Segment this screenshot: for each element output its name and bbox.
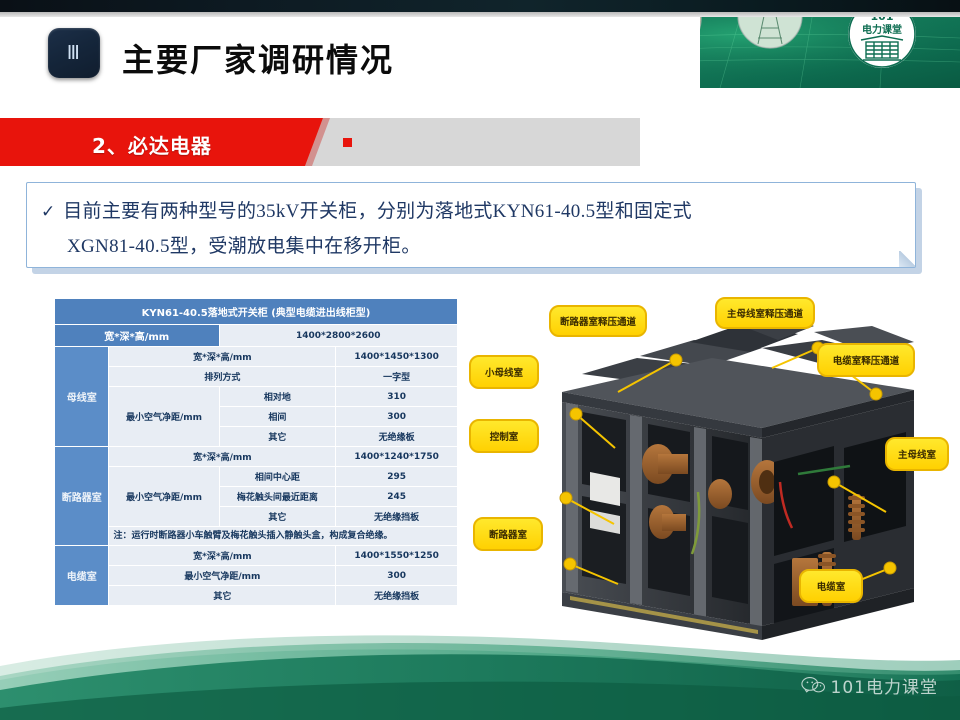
row-value: 无绝缘挡板 xyxy=(336,586,458,606)
section-number-label: Ⅲ xyxy=(67,42,82,65)
table-row: 最小空气净距/mm 相对地 310 xyxy=(55,387,458,407)
table-row: 最小空气净距/mm 300 xyxy=(55,566,458,586)
overall-dimension-value: 1400*2800*2600 xyxy=(219,325,457,347)
watermark: 101电力课堂 xyxy=(801,673,938,698)
table-row: 断路器室 宽*深*高/mm 1400*1240*1750 xyxy=(55,447,458,467)
row-group-label: 最小空气净距/mm xyxy=(109,467,219,527)
row-group-label: 最小空气净距/mm xyxy=(109,387,219,447)
row-sublabel: 相间 xyxy=(219,407,336,427)
callout-label: 主母线室 xyxy=(898,449,937,461)
row-value: 300 xyxy=(336,566,458,586)
callout-textbox: ✓ 目前主要有两种型号的35kV开关柜，分别为落地式KYN61-40.5型和固定… xyxy=(26,182,916,268)
check-icon: ✓ xyxy=(41,195,55,229)
spec-table: KYN61-40.5落地式开关柜 (典型电缆进出线柜型) 宽*深*高/mm 14… xyxy=(54,298,458,606)
table-title: KYN61-40.5落地式开关柜 (典型电缆进出线柜型) xyxy=(55,299,458,325)
callout-main-bus-room: 主母线室 xyxy=(886,438,948,470)
callout-main-bus-vent: 主母线室释压通道 xyxy=(716,298,814,328)
row-value: 一字型 xyxy=(336,367,458,387)
breaker-room-note: 注：运行时断路器小车触臂及梅花触头插入静触头盒，构成复合绝缘。 xyxy=(109,527,458,546)
table-row: 最小空气净距/mm 相间中心距 295 xyxy=(55,467,458,487)
row-sublabel: 其它 xyxy=(219,427,336,447)
row-value: 1400*1240*1750 xyxy=(336,447,458,467)
callout-breaker-room: 断路器室 xyxy=(474,518,542,550)
switchgear-diagram: 断路器室释压通道 主母线室释压通道 电缆室释压通道 小母线室 控制室 主母线室 xyxy=(462,296,954,668)
callout-cable-room-vent: 电缆室释压通道 xyxy=(818,344,914,376)
page-title: 主要厂家调研情况 xyxy=(122,35,394,81)
table-title-row: KYN61-40.5落地式开关柜 (典型电缆进出线柜型) xyxy=(55,299,458,325)
section-label-busbar: 母线室 xyxy=(55,347,109,447)
wechat-icon xyxy=(801,676,825,695)
row-value: 无绝缘板 xyxy=(336,427,458,447)
corner-fold-decoration xyxy=(899,251,915,267)
section-label-breaker: 断路器室 xyxy=(55,447,109,546)
row-label: 其它 xyxy=(109,586,336,606)
callout-label: 电缆室释压通道 xyxy=(833,355,900,367)
row-sublabel: 相对地 xyxy=(219,387,336,407)
watermark-text: 101电力课堂 xyxy=(831,673,938,698)
callout-label: 断路器室 xyxy=(489,529,528,541)
table-note-row: 注：运行时断路器小车触臂及梅花触头插入静触头盒，构成复合绝缘。 xyxy=(55,527,458,546)
callout-control-room: 控制室 xyxy=(470,420,538,452)
row-sublabel: 相间中心距 xyxy=(219,467,336,487)
callout-label: 小母线室 xyxy=(484,367,524,379)
callout-cable-room: 电缆室 xyxy=(800,570,862,602)
top-dark-strip xyxy=(0,0,960,12)
row-value: 1400*1450*1300 xyxy=(336,347,458,367)
row-label: 宽*深*高/mm xyxy=(109,447,336,467)
callout-label: 电缆室 xyxy=(817,581,846,593)
row-sublabel: 梅花触头间最近距离 xyxy=(219,487,336,507)
overall-dimension-label: 宽*深*高/mm xyxy=(55,325,220,347)
row-value: 1400*1550*1250 xyxy=(336,546,458,566)
row-label: 最小空气净距/mm xyxy=(109,566,336,586)
svg-text:电力课堂: 电力课堂 xyxy=(862,23,902,36)
table-row: 排列方式 一字型 xyxy=(55,367,458,387)
row-value: 310 xyxy=(336,387,458,407)
row-value: 300 xyxy=(336,407,458,427)
row-label: 排列方式 xyxy=(109,367,336,387)
callout-label: 主母线室释压通道 xyxy=(727,308,804,320)
section-ribbon-row: 2、必达电器 xyxy=(0,118,960,170)
callout-line-1: 目前主要有两种型号的35kV开关柜，分别为落地式KYN61-40.5型和固定式 xyxy=(63,195,692,229)
row-value: 无绝缘挡板 xyxy=(336,507,458,527)
row-sublabel: 其它 xyxy=(219,507,336,527)
section-label-cable: 电缆室 xyxy=(55,546,109,606)
row-label: 宽*深*高/mm xyxy=(109,347,336,367)
section-subtitle: 2、必达电器 xyxy=(92,130,212,159)
callout-label: 断路器室释压通道 xyxy=(560,316,637,328)
section-number-badge: Ⅲ xyxy=(48,28,100,78)
table-row: 电缆室 宽*深*高/mm 1400*1550*1250 xyxy=(55,546,458,566)
table-row: 母线室 宽*深*高/mm 1400*1450*1300 xyxy=(55,347,458,367)
slide-canvas: 101 电力课堂 Ⅲ 主要厂家调研情况 xyxy=(0,0,960,720)
row-value: 245 xyxy=(336,487,458,507)
callout-label: 控制室 xyxy=(490,431,519,443)
row-label: 宽*深*高/mm xyxy=(109,546,336,566)
table-overall-row: 宽*深*高/mm 1400*2800*2600 xyxy=(55,325,458,347)
callout-small-bus-room: 小母线室 xyxy=(470,356,538,388)
table-row: 其它 无绝缘挡板 xyxy=(55,586,458,606)
callout-line-2: XGN81-40.5型，受潮放电集中在移开柜。 xyxy=(67,229,899,265)
row-value: 295 xyxy=(336,467,458,487)
callout-breaker-room-vent: 断路器室释压通道 xyxy=(550,306,646,336)
ribbon-bullet-square xyxy=(343,138,352,147)
slide-header: Ⅲ 主要厂家调研情况 xyxy=(0,17,700,89)
